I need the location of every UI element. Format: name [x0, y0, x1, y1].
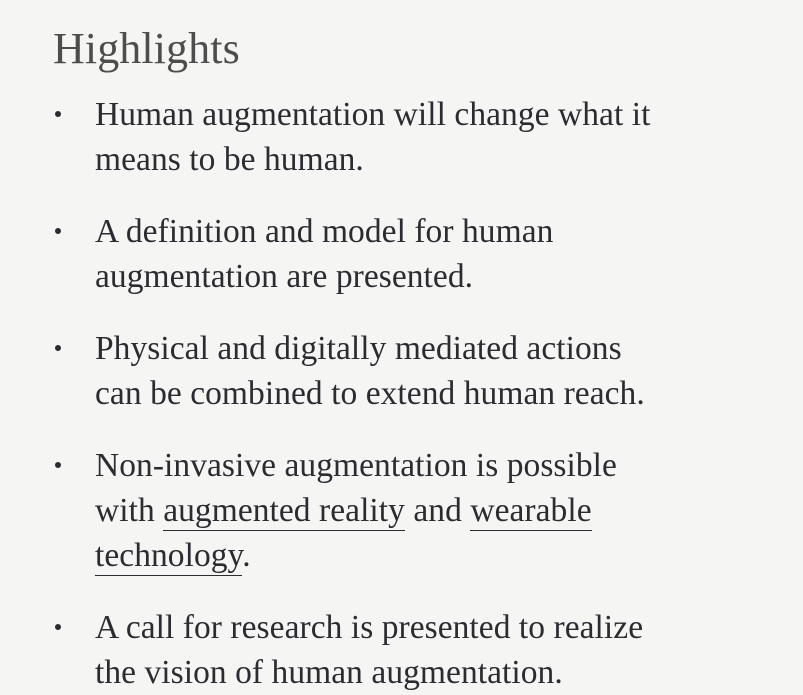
list-item: Physical and digitally mediated actions …	[0, 326, 730, 416]
text-run: A definition and model for human augment…	[95, 213, 553, 295]
highlights-panel: Highlights Human augmentation will chang…	[0, 0, 803, 691]
page-title: Highlights	[53, 22, 240, 76]
bullet-dot-icon	[55, 345, 61, 351]
bullet-dot-icon	[55, 111, 61, 117]
text-run: Human augmentation will change what it m…	[95, 96, 650, 178]
bullet-dot-icon	[55, 624, 61, 630]
list-item: Human augmentation will change what it m…	[0, 92, 730, 182]
text-run: and	[405, 492, 470, 529]
list-item-text: Human augmentation will change what it m…	[95, 96, 650, 178]
text-run: Physical and digitally mediated actions …	[95, 330, 645, 412]
list-item: Non-invasive augmentation is possible wi…	[0, 443, 730, 578]
list-item-text: A definition and model for human augment…	[95, 213, 553, 295]
highlights-list: Human augmentation will change what it m…	[0, 92, 803, 695]
bullet-dot-icon	[55, 228, 61, 234]
list-item-text: Non-invasive augmentation is possible wi…	[95, 447, 617, 576]
bullet-dot-icon	[55, 462, 61, 468]
text-run: A call for research is presented to real…	[95, 609, 643, 691]
inline-link[interactable]: augmented reality	[163, 492, 405, 531]
list-item: A definition and model for human augment…	[0, 209, 730, 299]
list-item-text: A call for research is presented to real…	[95, 609, 643, 691]
list-item: A call for research is presented to real…	[0, 605, 730, 695]
list-item-text: Physical and digitally mediated actions …	[95, 330, 645, 412]
text-run: .	[242, 537, 250, 574]
